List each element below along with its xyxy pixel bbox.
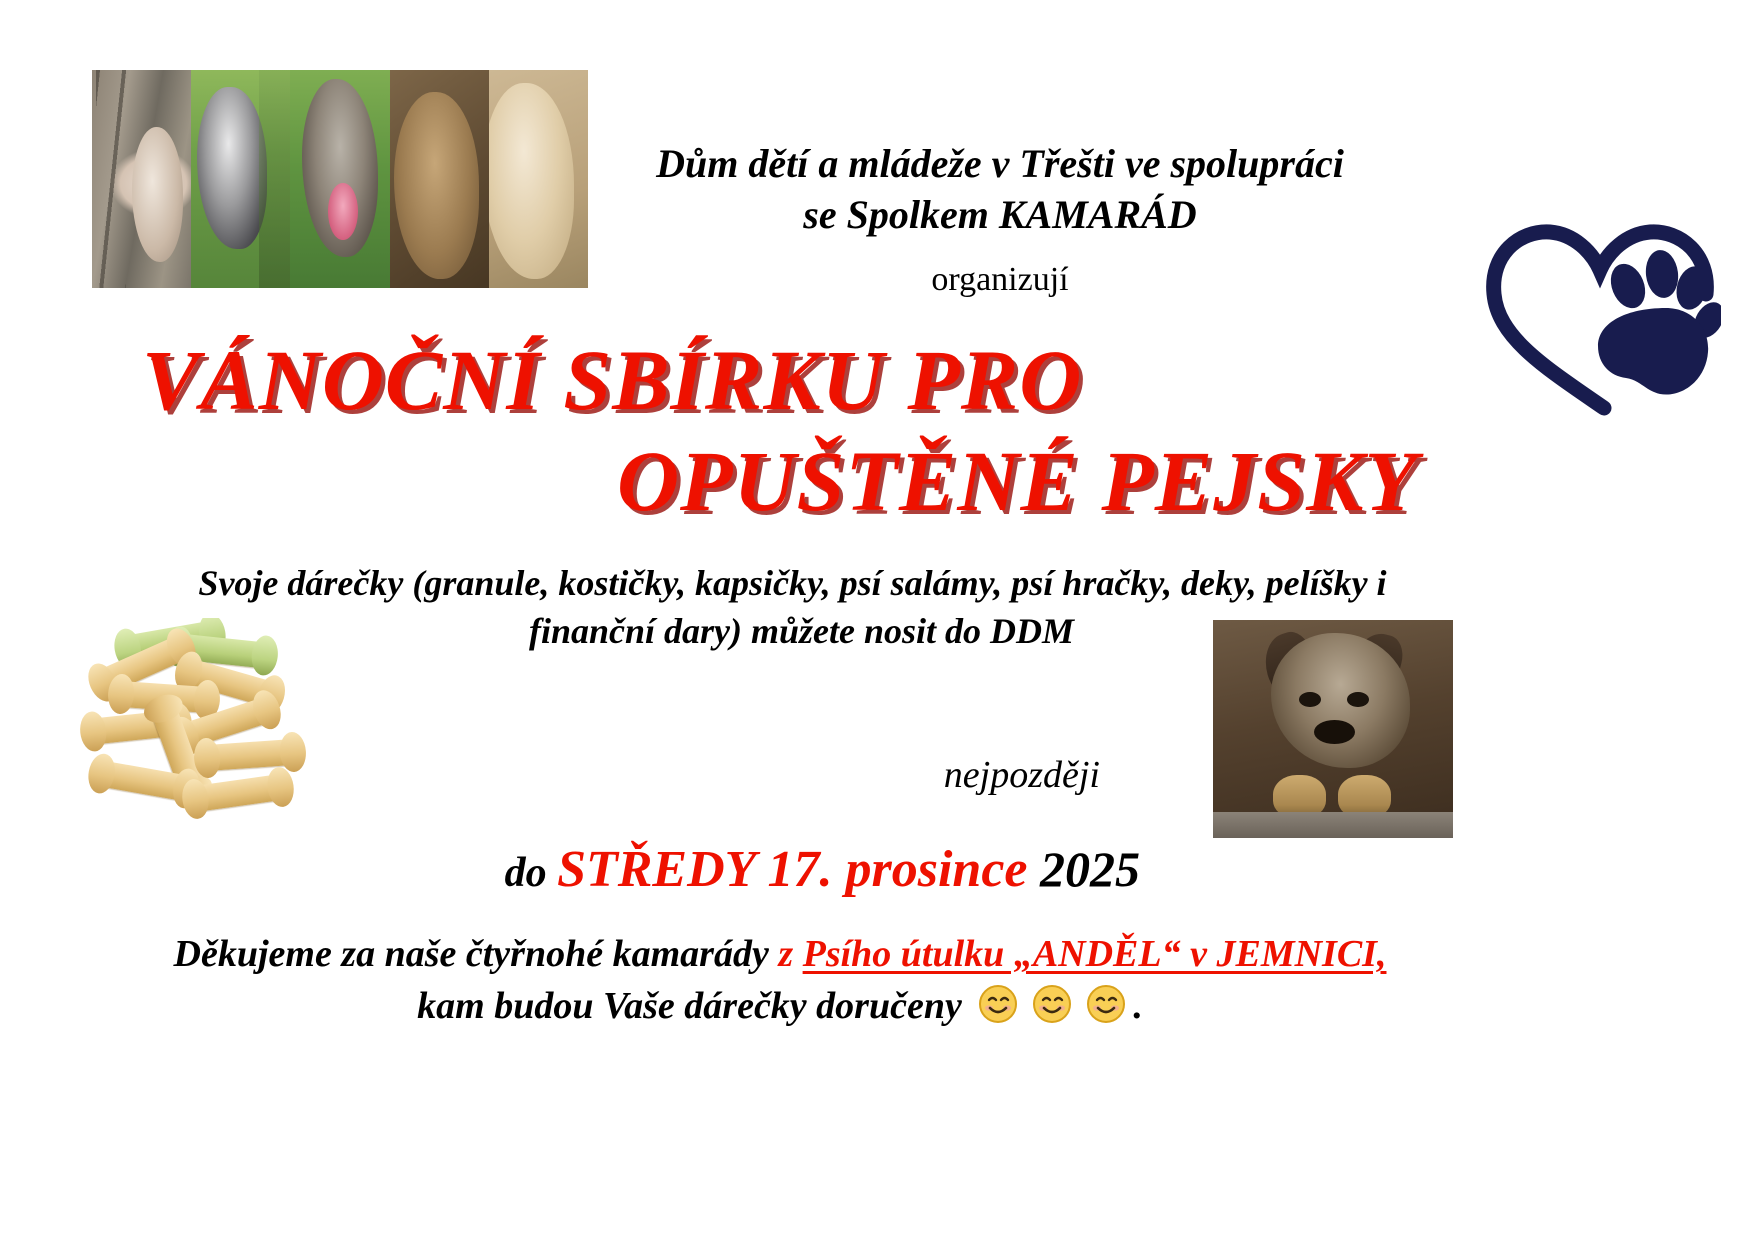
collage-panel-5 bbox=[489, 70, 588, 288]
deadline-date: do STŘEDY 17. prosince 2025 bbox=[380, 840, 1140, 899]
thanks-delivery-text: kam budou Vaše dárečky doručeny bbox=[417, 985, 971, 1027]
date-highlight: STŘEDY 17. prosince bbox=[557, 841, 1027, 898]
dog-biscuit-bones-photo bbox=[78, 618, 340, 826]
collage-panel-4 bbox=[390, 70, 489, 288]
organizer-line-2: se Spolkem KAMARÁD bbox=[600, 189, 1400, 240]
heart-with-paw-print-logo bbox=[1476, 212, 1721, 427]
smiley-face-icon bbox=[978, 984, 1018, 1024]
thanks-line-1: Děkujeme za naše čtyřnohé kamarády z Psí… bbox=[120, 928, 1440, 980]
dogs-collage-photo bbox=[92, 70, 588, 288]
body-line-1: Svoje dárečky (granule, kostičky, kapsič… bbox=[160, 560, 1425, 608]
organizer-heading: Dům dětí a mládeže v Třešti ve spoluprác… bbox=[600, 138, 1400, 240]
puppy-ledge bbox=[1213, 812, 1453, 838]
bone-shape bbox=[201, 739, 299, 772]
thanks-text: Děkujeme za naše čtyřnohé kamarády bbox=[174, 933, 779, 975]
thanks-block: Děkujeme za naše čtyřnohé kamarády z Psí… bbox=[120, 928, 1440, 1033]
thanks-period: . bbox=[1133, 985, 1143, 1027]
date-prefix: do bbox=[505, 850, 558, 896]
puppy-eye-right bbox=[1347, 692, 1369, 707]
poster-canvas: Dům dětí a mládeže v Třešti ve spoluprác… bbox=[0, 0, 1753, 1240]
title-line-2: OPUŠTĚNÉ PEJSKY bbox=[120, 431, 1450, 532]
deadline-label: nejpozději bbox=[400, 753, 1100, 797]
collage-panel-3 bbox=[290, 70, 389, 288]
date-year: 2025 bbox=[1028, 841, 1141, 897]
paw-print-shape bbox=[1598, 248, 1721, 394]
title-line-1: VÁNOČNÍ SBÍRKU PRO bbox=[120, 330, 1450, 431]
organizer-line-1: Dům dětí a mládeže v Třešti ve spoluprác… bbox=[600, 138, 1400, 189]
thanks-z: z bbox=[778, 933, 802, 975]
organizuji-label: organizují bbox=[600, 258, 1400, 302]
collage-panel-2 bbox=[191, 70, 290, 288]
collage-panel-1 bbox=[92, 70, 191, 288]
puppy-eye-left bbox=[1299, 692, 1321, 707]
shelter-name: Psího útulku „ANDĚL“ v JEMNICI, bbox=[803, 933, 1387, 975]
puppy-snout bbox=[1314, 720, 1355, 744]
smiley-face-icon bbox=[1086, 984, 1126, 1024]
thanks-line-2: kam budou Vaše dárečky doručeny . bbox=[120, 980, 1440, 1032]
puppy-photo bbox=[1213, 620, 1453, 838]
page-title: VÁNOČNÍ SBÍRKU PRO OPUŠTĚNÉ PEJSKY bbox=[120, 330, 1450, 533]
smiley-face-icon bbox=[1032, 984, 1072, 1024]
